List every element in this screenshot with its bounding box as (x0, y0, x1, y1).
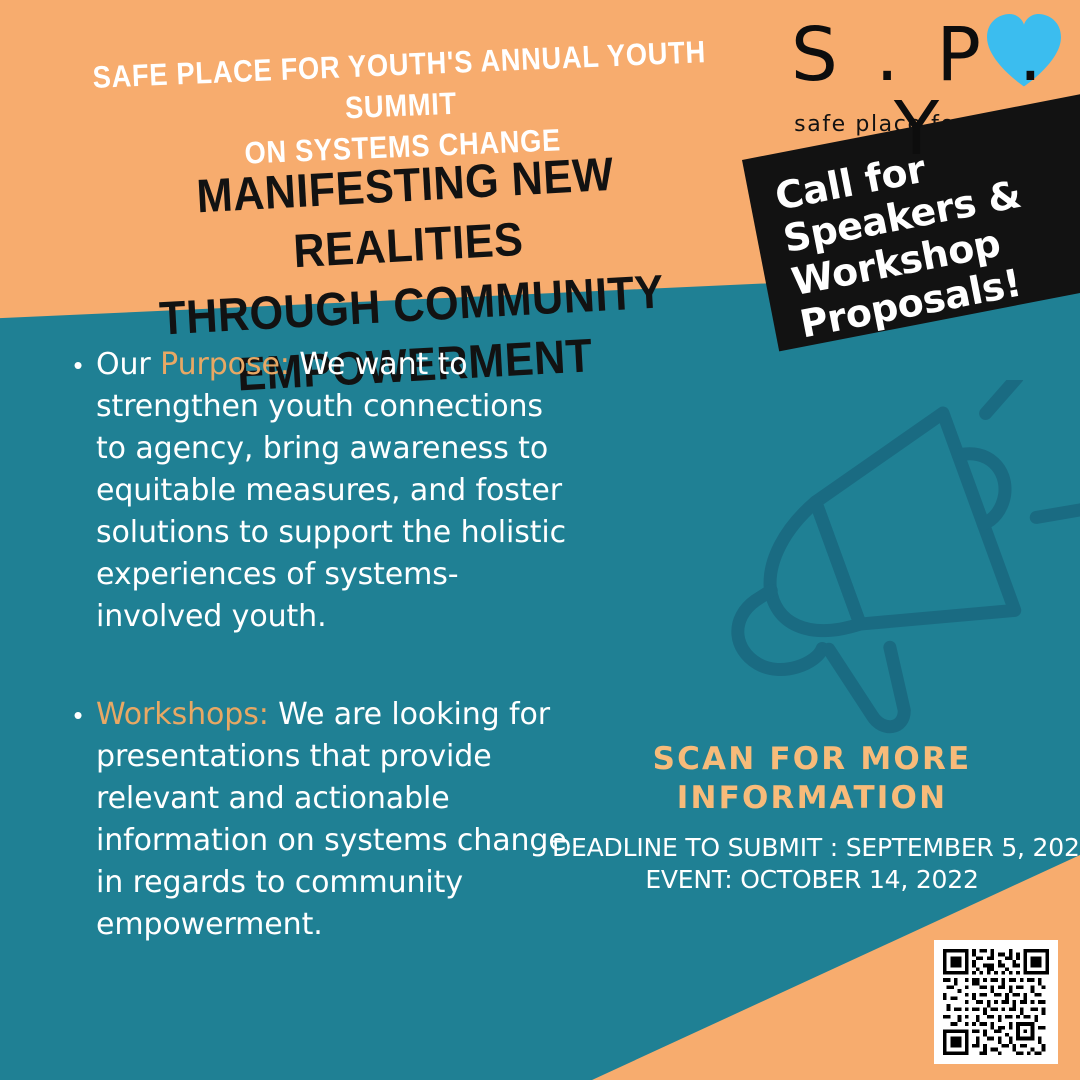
bullet-dot-icon: • (60, 694, 96, 736)
bullet-accent-label: Workshops: (96, 697, 269, 732)
bullet-accent-label: Purpose: (160, 347, 290, 382)
deadline-text: DEADLINE TO SUBMIT : SEPTEMBER 5, 2022 (552, 832, 1072, 865)
bullet-body-purpose: Our Purpose: We want to strengthen youth… (96, 344, 580, 638)
list-item: • Workshops: We are looking for presenta… (60, 694, 580, 946)
list-item: • Our Purpose: We want to strengthen you… (60, 344, 580, 638)
spy-logo: S . P . Y safe place for youth (775, 12, 1065, 152)
megaphone-icon (690, 380, 1080, 740)
bullet-text: We want to strengthen youth connections … (96, 347, 566, 634)
bullet-label: Our (96, 347, 160, 382)
scan-heading: Scan for More Information (552, 740, 1072, 818)
scan-heading-line-1: Scan for More (552, 740, 1072, 779)
poster-canvas: Safe Place for Youth's Annual Youth Summ… (0, 0, 1080, 1080)
bullet-list: • Our Purpose: We want to strengthen you… (60, 344, 580, 1002)
scan-dates: DEADLINE TO SUBMIT : SEPTEMBER 5, 2022 E… (552, 832, 1072, 897)
qr-code-icon[interactable] (943, 949, 1049, 1055)
event-date-text: EVENT: OCTOBER 14, 2022 (552, 864, 1072, 897)
scan-heading-line-2: Information (552, 779, 1072, 818)
qr-code-card[interactable] (934, 940, 1058, 1064)
spy-letters: S . P . Y (775, 12, 1065, 166)
bullet-dot-icon: • (60, 344, 96, 386)
bullet-body-workshops: Workshops: We are looking for presentati… (96, 694, 580, 946)
scan-info-block: Scan for More Information DEADLINE TO SU… (552, 740, 1072, 897)
bullet-text: We are looking for presentations that pr… (96, 697, 567, 942)
